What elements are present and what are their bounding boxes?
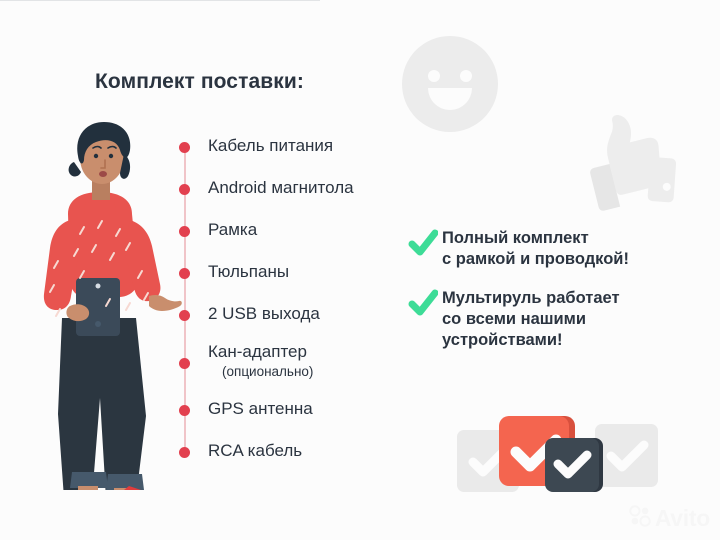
list-item-label: GPS антенна bbox=[208, 399, 313, 418]
feature-list: Полный комплект с рамкой и проводкой! Му… bbox=[408, 228, 678, 370]
feature-text-line: со всеми нашими bbox=[442, 309, 620, 330]
smiley-face-icon bbox=[396, 30, 504, 138]
list-item: Кабель питания bbox=[176, 136, 406, 156]
list-item: GPS антенна bbox=[176, 399, 406, 419]
feature-text-line: Полный комплект bbox=[442, 228, 629, 249]
avito-wordmark: Avito bbox=[655, 507, 710, 530]
page-title: Комплект поставки: bbox=[95, 70, 304, 94]
feature-item: Полный комплект с рамкой и проводкой! bbox=[408, 228, 678, 270]
feature-text-line: с рамкой и проводкой! bbox=[442, 249, 629, 270]
list-item: Кан-адаптер (опционально) bbox=[176, 342, 406, 381]
list-item: 2 USB выхода bbox=[176, 304, 406, 324]
list-item-label: 2 USB выхода bbox=[208, 304, 320, 323]
list-item: Рамка bbox=[176, 220, 406, 240]
list-item-label: RCA кабель bbox=[208, 441, 302, 460]
list-item: RCA кабель bbox=[176, 441, 406, 461]
bullet-dot-icon bbox=[179, 268, 190, 279]
list-item: Тюльпаны bbox=[176, 262, 406, 282]
feature-item: Мультируль работает со всеми нашими устр… bbox=[408, 288, 678, 351]
avito-watermark: Avito bbox=[629, 505, 710, 532]
bullet-dot-icon bbox=[179, 358, 190, 369]
list-item-sublabel: (опционально) bbox=[222, 363, 313, 381]
list-item-label: Android магнитола bbox=[208, 178, 354, 197]
check-icon bbox=[408, 229, 438, 257]
list-item-label: Кабель питания bbox=[208, 136, 333, 155]
feature-text-line: устройствами! bbox=[442, 330, 620, 351]
list-item: Android магнитола bbox=[176, 178, 406, 198]
list-item-label: Кан-адаптер bbox=[208, 342, 307, 361]
bullet-dot-icon bbox=[179, 142, 190, 153]
bullet-dot-icon bbox=[179, 184, 190, 195]
bullet-dot-icon bbox=[179, 405, 190, 416]
feature-text-line: Мультируль работает bbox=[442, 288, 620, 309]
bullet-dot-icon bbox=[179, 447, 190, 458]
thumbs-up-icon bbox=[570, 108, 682, 220]
slide-canvas: Комплект поставки: Кабель питания Androi… bbox=[0, 0, 720, 540]
bullet-dot-icon bbox=[179, 310, 190, 321]
ground-line bbox=[0, 0, 320, 1]
person-illustration bbox=[10, 110, 190, 490]
checkbox-tiles-icon bbox=[455, 400, 660, 500]
list-item-label: Рамка bbox=[208, 220, 257, 239]
avito-logo-icon bbox=[629, 505, 651, 532]
bullet-dot-icon bbox=[179, 226, 190, 237]
check-icon bbox=[408, 289, 438, 317]
list-item-label: Тюльпаны bbox=[208, 262, 289, 281]
